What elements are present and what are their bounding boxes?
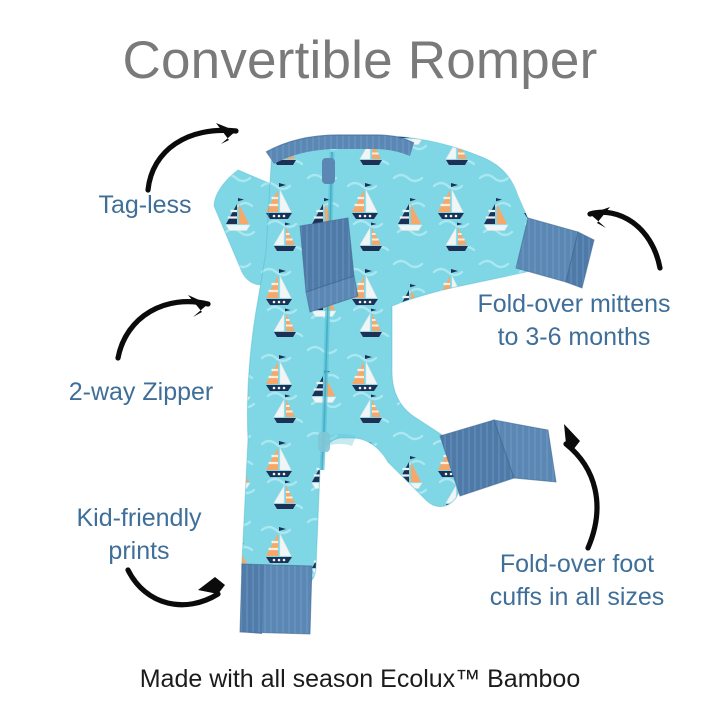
arrow-path-mittens — [590, 212, 660, 268]
arrow-path-tag-less — [148, 130, 236, 190]
arrow-head-prints — [198, 577, 225, 594]
arrow-head-zipper — [188, 295, 208, 317]
arrow-heads — [188, 123, 610, 594]
arrow-head-tag-less — [216, 123, 236, 144]
callout-arrows — [0, 0, 720, 720]
arrow-path-foot-cuffs — [566, 444, 597, 548]
arrow-path-zipper — [118, 302, 208, 358]
product-feature-graphic: Convertible Romper — [0, 0, 720, 720]
